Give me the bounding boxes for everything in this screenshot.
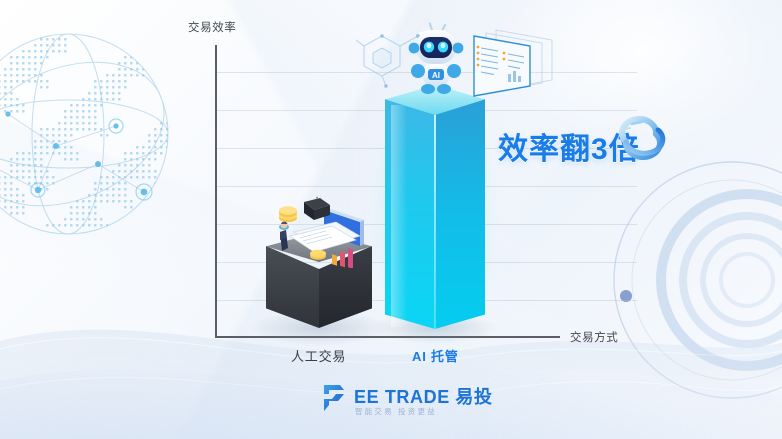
x-axis-label: 交易方式 — [570, 329, 618, 345]
bar-face-right — [435, 99, 485, 329]
bar-ai-managed[interactable] — [385, 85, 485, 337]
logo-mark-icon — [318, 383, 348, 413]
robot-chest-label: AI — [432, 71, 440, 80]
bar-highlight — [391, 105, 407, 327]
bar-front-edge — [434, 113, 436, 329]
data-panels-illustration — [452, 26, 558, 98]
brand-logo[interactable]: EE TRADE 易投 智能交易 投资更益 — [318, 381, 468, 421]
efficiency-bar-chart: 交易效率 交易方式 — [0, 0, 782, 439]
orbit-swoosh-icon — [614, 112, 672, 166]
slide-canvas: 交易效率 交易方式 — [0, 0, 782, 439]
y-axis-label: 交易效率 — [188, 19, 236, 35]
manual-trading-illustration — [264, 196, 376, 268]
category-label-manual: 人工交易 — [291, 346, 346, 365]
logo-tagline: 智能交易 投资更益 — [355, 406, 437, 417]
category-label-ai: AI 托管 — [412, 346, 459, 365]
y-axis-line — [215, 45, 217, 337]
